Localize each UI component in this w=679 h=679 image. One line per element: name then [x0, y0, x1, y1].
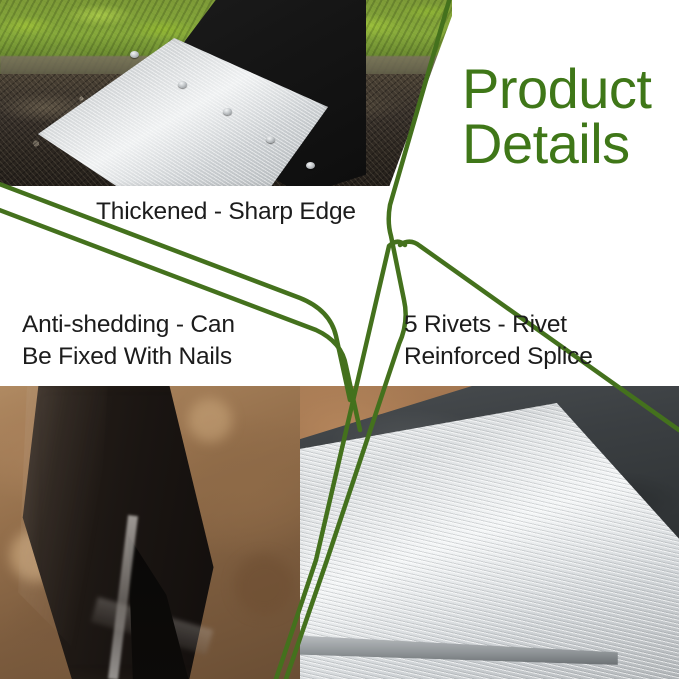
blade-rivet	[178, 81, 187, 88]
caption-line: Anti-shedding - Can	[22, 309, 235, 341]
blade-rivet	[130, 51, 139, 58]
caption-line: Be Fixed With Nails	[22, 341, 235, 373]
caption-line: Reinforced Splice	[404, 341, 593, 373]
caption-five-rivets: 5 Rivets - Rivet Reinforced Splice	[404, 309, 593, 373]
blade-rivet	[223, 108, 232, 115]
product-details-infographic: Product Details Thickened - Sharp Edge A…	[0, 0, 679, 679]
caption-anti-shedding: Anti-shedding - Can Be Fixed With Nails	[22, 309, 235, 373]
riveted-blade-closeup-photo	[300, 385, 679, 679]
socket-nail-hole-photo	[0, 385, 300, 679]
spade-blade-in-soil-photo	[0, 0, 452, 186]
page-title: Product Details	[462, 62, 679, 172]
blade-rivet	[306, 162, 315, 169]
blade-rivet	[266, 136, 275, 143]
title-line-1: Product	[462, 62, 679, 117]
title-line-2: Details	[462, 117, 679, 172]
caption-line: Thickened - Sharp Edge	[96, 196, 356, 228]
caption-line: 5 Rivets - Rivet	[404, 309, 593, 341]
caption-thickened-sharp-edge: Thickened - Sharp Edge	[96, 196, 356, 228]
